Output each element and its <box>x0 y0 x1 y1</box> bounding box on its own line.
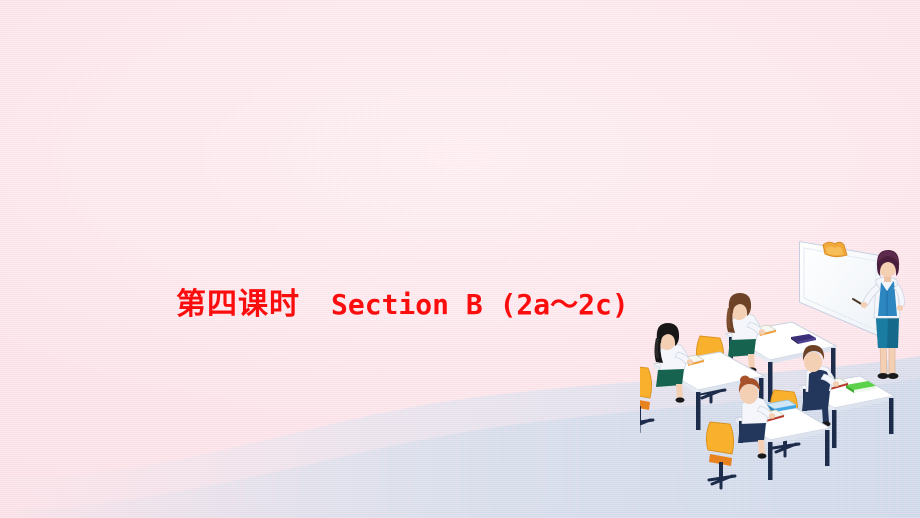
page-title-english: Section B (2a～2c) <box>331 288 629 321</box>
board-pouch-icon <box>823 242 847 257</box>
page-title-gap <box>300 287 331 322</box>
chair-front-center <box>706 422 735 488</box>
chair-back-left <box>640 366 653 432</box>
page-title: 第四课时 Section B (2a～2c) <box>176 288 629 322</box>
page-title-chinese: 第四课时 <box>176 287 300 322</box>
whiteboard <box>800 242 880 336</box>
classroom-illustration <box>640 236 920 518</box>
presentation-slide: 第四课时 Section B (2a～2c) <box>0 0 920 518</box>
